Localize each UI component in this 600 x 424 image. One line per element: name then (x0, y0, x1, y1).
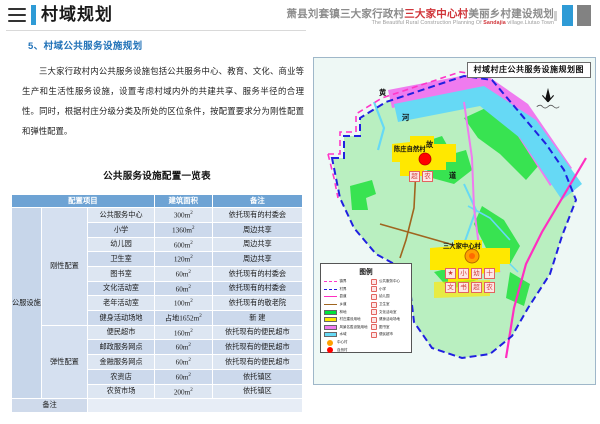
facility-icon-supermarket[interactable]: 超 (409, 171, 420, 182)
table-footer-row: 备注 (12, 399, 303, 412)
title-accent-bar (31, 5, 36, 25)
item-name: 文化活动室 (88, 281, 155, 296)
legend-label: 卫生室 (379, 302, 390, 307)
legend-swatch-village-land (324, 317, 337, 322)
facility-icon-agri-b[interactable]: 农 (484, 282, 495, 293)
item-area: 120m2 (154, 252, 212, 267)
legend-item: 水域 (324, 331, 368, 339)
banner-title-en: The Beautiful Rural Construction Plannin… (372, 20, 554, 26)
footer-label: 备注 (12, 399, 88, 412)
hamburger-icon[interactable] (8, 8, 26, 22)
banner-cn-highlight: 三大家中心村 (404, 9, 468, 20)
facility-icon-supermarket-b[interactable]: 超 (471, 282, 482, 293)
legend-label: 风景名胜设施用地 (340, 325, 368, 330)
item-name: 农贸市场 (88, 384, 155, 399)
legend-swatch-scenic-land (324, 325, 337, 330)
banner-block-gray (577, 5, 591, 26)
table-body: 公服设施 刚性配置 公共服务中心 300m2 依托现有的村委会 小学 1360m… (12, 208, 303, 412)
legend-label: 便民超市 (379, 332, 393, 337)
legend-icon-culture-room (371, 309, 377, 315)
facility-config-table: 配置项目 建筑面积 备注 公服设施 刚性配置 公共服务中心 300m2 依托现有… (11, 194, 303, 413)
item-note: 依托镇区 (212, 384, 302, 399)
group-label-elastic: 弹性配置 (41, 325, 87, 398)
group-label-rigid: 刚性配置 (41, 208, 87, 326)
facility-icon-agri[interactable]: 农 (422, 171, 433, 182)
legend-swatch-county-road (324, 296, 337, 297)
legend-item: 文化活动室 (371, 308, 410, 316)
banner-en-part1: The Beautiful Rural Construction Plannin… (372, 20, 484, 26)
legend-icon-supermarket (371, 332, 377, 338)
item-name: 老年活动室 (88, 296, 155, 311)
item-name: 金融服务网点 (88, 355, 155, 370)
item-area: 60m2 (154, 281, 212, 296)
map-panel[interactable]: 村域村庄公共服务设施规划图 (313, 57, 596, 385)
table-row: 公服设施 刚性配置 公共服务中心 300m2 依托现有的村委会 (12, 208, 303, 223)
legend-icon-fitness-area (371, 317, 377, 323)
slide-page: 村域规划 5、村域公共服务设施规划 萧县刘套镇三大家行政村三大家中心村美丽乡村建… (0, 0, 600, 424)
table-title: 公共服务设施配置一览表 (0, 168, 314, 182)
banner-title-cn: 萧县刘套镇三大家行政村三大家中心村美丽乡村建设规划 (286, 6, 554, 21)
item-name: 邮政服务网点 (88, 340, 155, 355)
item-area: 1360m2 (154, 222, 212, 237)
compass-icon (529, 86, 567, 116)
item-area: 60m2 (154, 355, 212, 370)
item-name: 小学 (88, 222, 155, 237)
legend-column-right: 公共服务中心 小学 幼儿园 卫生室 文化活动室 健身活动场地 图书室 便民超市 (371, 278, 410, 354)
legend-label: 公共服务中心 (379, 279, 400, 284)
legend-item: 公共服务中心 (371, 278, 410, 286)
legend-label: 县道 (340, 294, 347, 299)
item-note: 依托现有的村委会 (212, 208, 302, 223)
river-char-2: 河 (402, 113, 409, 123)
item-note: 新 建 (212, 311, 302, 326)
legend-item: 村界 (324, 286, 368, 294)
village-label-sandajia: 三大家中心村 (443, 241, 481, 250)
item-area: 60m2 (154, 340, 212, 355)
banner-block-blue (562, 5, 573, 26)
river-char-4: 道 (449, 171, 456, 181)
facility-icon-clinic[interactable]: 十 (484, 268, 495, 279)
item-note: 依托现有的便民超市 (212, 355, 302, 370)
legend-label: 小学 (379, 287, 386, 292)
item-area: 200m2 (154, 384, 212, 399)
col-header-item: 配置项目 (12, 195, 155, 208)
item-area: 占地1652m2 (154, 311, 212, 326)
legend-item: 乡道 (324, 301, 368, 309)
item-name: 幼儿园 (88, 237, 155, 252)
item-area: 60m2 (154, 369, 212, 384)
legend-label: 镇界 (340, 279, 347, 284)
banner-block-gray-small (554, 11, 557, 21)
item-note: 依托镇区 (212, 369, 302, 384)
facility-icon-culture-room[interactable]: 文 (445, 282, 456, 293)
legend-title: 图例 (321, 266, 411, 276)
page-title: 村域规划 (41, 4, 113, 25)
legend-icon-kindergarten (371, 294, 377, 300)
item-name: 便民超市 (88, 325, 155, 340)
footer-value (88, 399, 303, 412)
village-label-chenzhuang: 陈庄自然村 (394, 144, 425, 153)
col-header-note: 备注 (212, 195, 302, 208)
item-note: 依托现有的敬老院 (212, 296, 302, 311)
legend-swatch-township-road (324, 304, 337, 305)
item-name: 农资店 (88, 369, 155, 384)
legend-item: 自然村 (324, 346, 368, 354)
legend-swatch-center-village (327, 340, 333, 346)
legend-label: 健身活动场地 (379, 317, 400, 322)
legend-label: 自然村 (337, 348, 348, 353)
header-divider (6, 30, 306, 31)
legend-item: 风景名胜设施用地 (324, 324, 368, 332)
banner-cn-part1: 萧县刘套镇三大家行政村 (286, 9, 404, 20)
facility-icon-library[interactable]: 书 (458, 282, 469, 293)
legend-label: 图书室 (379, 325, 390, 330)
item-area: 300m2 (154, 208, 212, 223)
item-area: 600m2 (154, 237, 212, 252)
legend-swatch-village-boundary (324, 289, 337, 290)
col-header-area: 建筑面积 (154, 195, 212, 208)
item-note: 依托现有的村委会 (212, 281, 302, 296)
legend-item: 健身活动场地 (371, 316, 410, 324)
legend-label: 中心村 (337, 340, 348, 345)
legend-icon-primary-school (371, 286, 377, 292)
map-title: 村域村庄公共服务设施规划图 (467, 62, 592, 78)
map-legend: 图例 镇界 村界 县道 乡道 林地 村庄建设用地 风景名胜设施用地 水域 中心村… (320, 263, 412, 353)
item-note: 周边共享 (212, 237, 302, 252)
banner-en-highlight: Sandajia (483, 20, 506, 26)
facility-icon-service-center[interactable]: ★ (445, 268, 456, 279)
item-name: 公共服务中心 (88, 208, 155, 223)
item-name: 卫生室 (88, 252, 155, 267)
legend-label: 村界 (340, 287, 347, 292)
legend-label: 水域 (340, 332, 347, 337)
legend-item: 镇界 (324, 278, 368, 286)
item-note: 依托现有的便民超市 (212, 340, 302, 355)
legend-label: 文化活动室 (379, 310, 397, 315)
legend-column-left: 镇界 村界 县道 乡道 林地 村庄建设用地 风景名胜设施用地 水域 中心村 自然… (324, 278, 368, 354)
legend-item: 小学 (371, 286, 410, 294)
legend-item: 县道 (324, 293, 368, 301)
side-label-public-facility: 公服设施 (12, 208, 42, 399)
table-header-row: 配置项目 建筑面积 备注 (12, 195, 303, 208)
river-char-3: 故 (426, 140, 433, 150)
legend-label: 幼儿园 (379, 294, 390, 299)
item-area: 100m2 (154, 296, 212, 311)
section-subtitle: 5、村域公共服务设施规划 (28, 38, 143, 52)
item-name: 健身活动场地 (88, 311, 155, 326)
item-note: 依托现有的村委会 (212, 267, 302, 282)
legend-swatch-natural-village (327, 347, 333, 353)
legend-item: 中心村 (324, 339, 368, 347)
item-note: 依托现有的便民超市 (212, 325, 302, 340)
table-row: 弹性配置 便民超市 160m2 依托现有的便民超市 (12, 325, 303, 340)
table-head: 配置项目 建筑面积 备注 (12, 195, 303, 208)
project-banner: 萧县刘套镇三大家行政村三大家中心村美丽乡村建设规划 The Beautiful … (310, 0, 600, 31)
legend-item: 图书室 (371, 324, 410, 332)
item-area: 60m2 (154, 267, 212, 282)
legend-item: 卫生室 (371, 301, 410, 309)
body-paragraph: 三大家行政村内公共服务设施包括公共服务中心、教育、文化、商业等生产和生活性服务设… (22, 62, 304, 142)
paragraph-text: 三大家行政村内公共服务设施包括公共服务中心、教育、文化、商业等生产和生活性服务设… (22, 62, 304, 142)
item-name: 图书室 (88, 267, 155, 282)
legend-icon-clinic (371, 302, 377, 308)
legend-label: 林地 (340, 310, 347, 315)
legend-item: 村庄建设用地 (324, 316, 368, 324)
facility-icon-kindergarten[interactable]: 幼 (471, 268, 482, 279)
river-char-1: 黄 (379, 88, 386, 98)
legend-label: 村庄建设用地 (340, 317, 361, 322)
item-note: 周边共享 (212, 222, 302, 237)
item-area: 160m2 (154, 325, 212, 340)
legend-item: 幼儿园 (371, 293, 410, 301)
banner-cn-part2: 美丽乡村建设规划 (468, 9, 554, 20)
banner-en-part2: village.Liutao Town (506, 20, 554, 26)
legend-item: 林地 (324, 308, 368, 316)
legend-item: 便民超市 (371, 331, 410, 339)
legend-icon-library (371, 324, 377, 330)
legend-icon-service-center (371, 279, 377, 285)
legend-swatch-water (324, 332, 337, 337)
legend-swatch-town-boundary (324, 281, 337, 282)
item-note: 周边共享 (212, 252, 302, 267)
legend-swatch-woodland (324, 310, 337, 315)
facility-icon-primary-school[interactable]: 小 (458, 268, 469, 279)
legend-label: 乡道 (340, 302, 347, 307)
